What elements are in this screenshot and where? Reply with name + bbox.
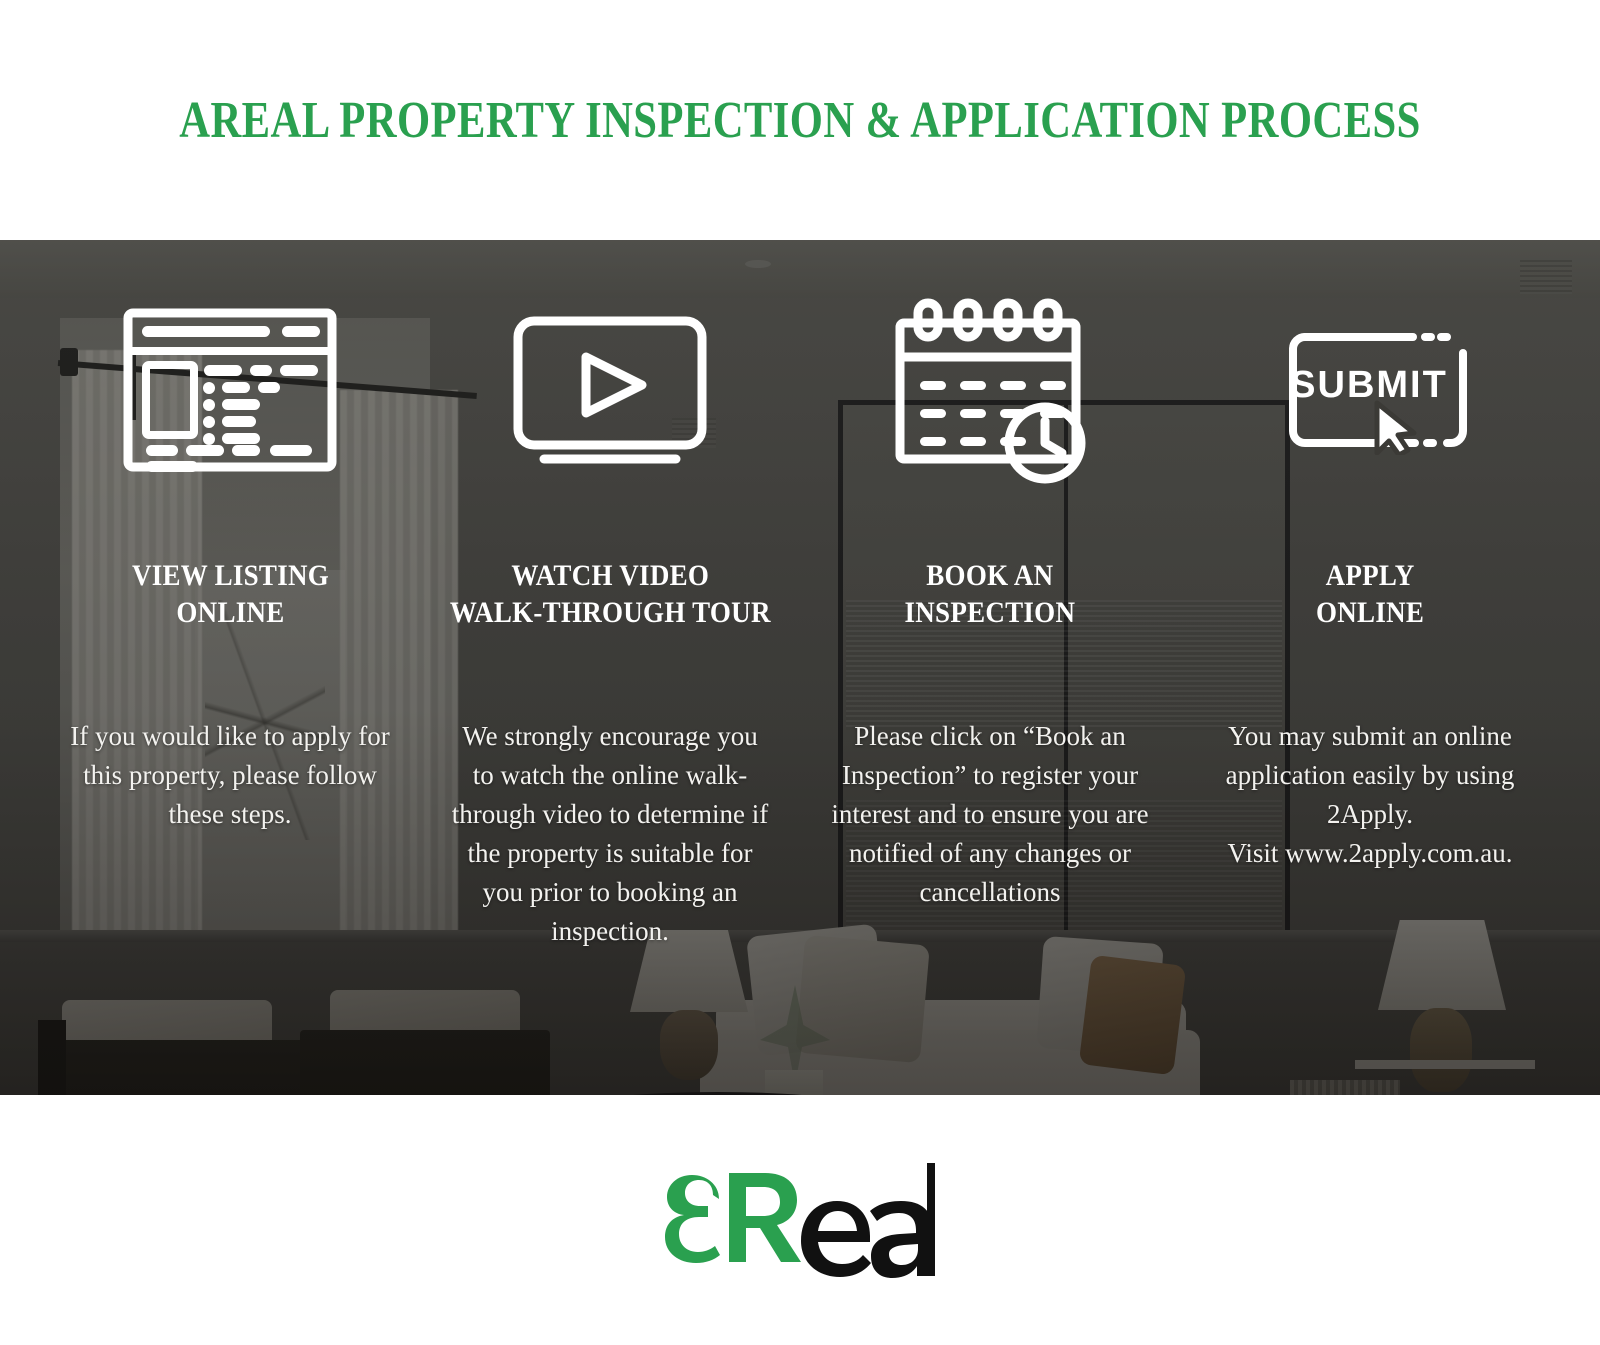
step-body: Please click on “Book an Inspection” to … xyxy=(830,717,1150,913)
step-apply-online: SUBMIT APPLY ONLINE You may submit an on… xyxy=(1180,240,1560,1095)
video-monitor-play-icon xyxy=(500,240,720,540)
calendar-clock-icon xyxy=(880,240,1100,540)
step-title-line1: VIEW LISTING xyxy=(131,558,328,595)
steps-row: VIEW LISTING ONLINE If you would like to… xyxy=(0,240,1600,1095)
step-title-line1: APPLY xyxy=(1316,558,1424,595)
listing-window-icon xyxy=(120,240,340,540)
step-title: APPLY ONLINE xyxy=(1316,558,1424,632)
submit-button-cursor-icon: SUBMIT xyxy=(1265,240,1475,540)
page-title: AREAL PROPERTY INSPECTION & APPLICATION … xyxy=(179,91,1420,150)
step-body: If you would like to apply for this prop… xyxy=(70,717,390,834)
step-title-line2: INSPECTION xyxy=(905,595,1076,632)
step-view-listing: VIEW LISTING ONLINE If you would like to… xyxy=(40,240,420,1095)
step-title-line2: ONLINE xyxy=(131,595,328,632)
title-bar: AREAL PROPERTY INSPECTION & APPLICATION … xyxy=(0,0,1600,240)
step-title-line2: WALK-THROUGH TOUR xyxy=(450,595,771,632)
step-title-line1: BOOK AN xyxy=(905,558,1076,595)
step-body: We strongly encourage you to watch the o… xyxy=(450,717,770,952)
step-body: You may submit an online application eas… xyxy=(1210,717,1530,874)
submit-icon-label: SUBMIT xyxy=(1290,364,1448,406)
footer-logo-area xyxy=(0,1095,1600,1345)
step-title: BOOK AN INSPECTION xyxy=(905,558,1076,632)
step-title: WATCH VIDEO WALK-THROUGH TOUR xyxy=(450,558,771,632)
step-book-inspection: BOOK AN INSPECTION Please click on “Book… xyxy=(800,240,1180,1095)
areal-logo xyxy=(665,1155,935,1285)
step-watch-video: WATCH VIDEO WALK-THROUGH TOUR We strongl… xyxy=(420,240,800,1095)
hero-banner: VIEW LISTING ONLINE If you would like to… xyxy=(0,240,1600,1095)
areal-logo-mark xyxy=(665,1155,935,1285)
step-title-line1: WATCH VIDEO xyxy=(450,558,771,595)
step-title-line2: ONLINE xyxy=(1316,595,1424,632)
step-title: VIEW LISTING ONLINE xyxy=(131,558,328,632)
infographic-page: AREAL PROPERTY INSPECTION & APPLICATION … xyxy=(0,0,1600,1345)
